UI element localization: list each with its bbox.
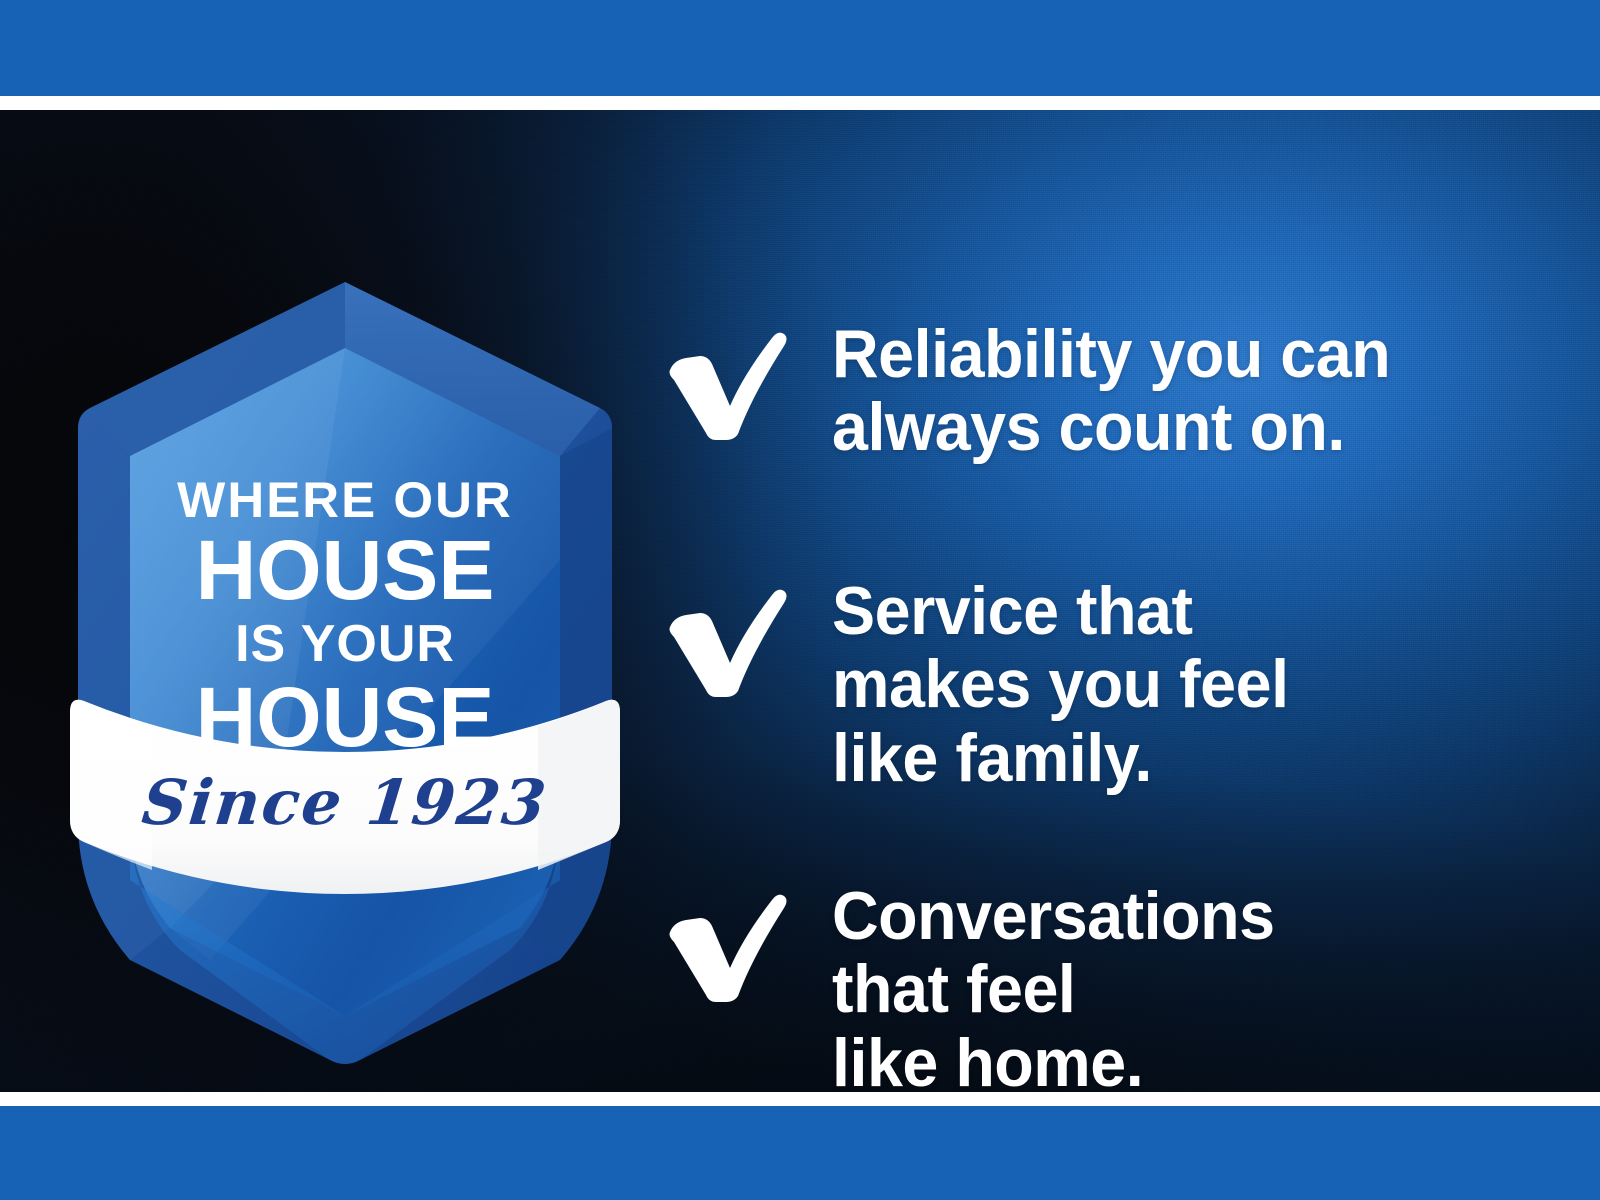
benefit-text-2: Service that makes you feel like family. xyxy=(832,575,1505,795)
bottom-brand-bar xyxy=(0,1106,1600,1200)
shield-badge: WHERE OUR HOUSE IS YOUR HOUSE Since 1923 xyxy=(60,260,630,1070)
benefits-list: Reliability you can always count on. Ser… xyxy=(660,220,1540,1092)
benefit-item-3: Conversations that feel like home. xyxy=(660,880,1540,1092)
checkmark-icon xyxy=(660,884,790,1002)
benefit-text-1: Reliability you can always count on. xyxy=(832,318,1505,465)
benefit-item-1: Reliability you can always count on. xyxy=(660,318,1540,465)
benefit-item-2: Service that makes you feel like family. xyxy=(660,575,1540,795)
promo-banner: WHERE OUR HOUSE IS YOUR HOUSE Since 1923… xyxy=(0,0,1600,1200)
content-stage: WHERE OUR HOUSE IS YOUR HOUSE Since 1923… xyxy=(0,110,1600,1092)
checkmark-icon xyxy=(660,322,790,440)
top-brand-bar xyxy=(0,0,1600,96)
bottom-white-divider xyxy=(0,1092,1600,1106)
checkmark-icon xyxy=(660,579,790,697)
top-white-divider xyxy=(0,96,1600,110)
benefit-text-3: Conversations that feel like home. xyxy=(832,880,1505,1092)
